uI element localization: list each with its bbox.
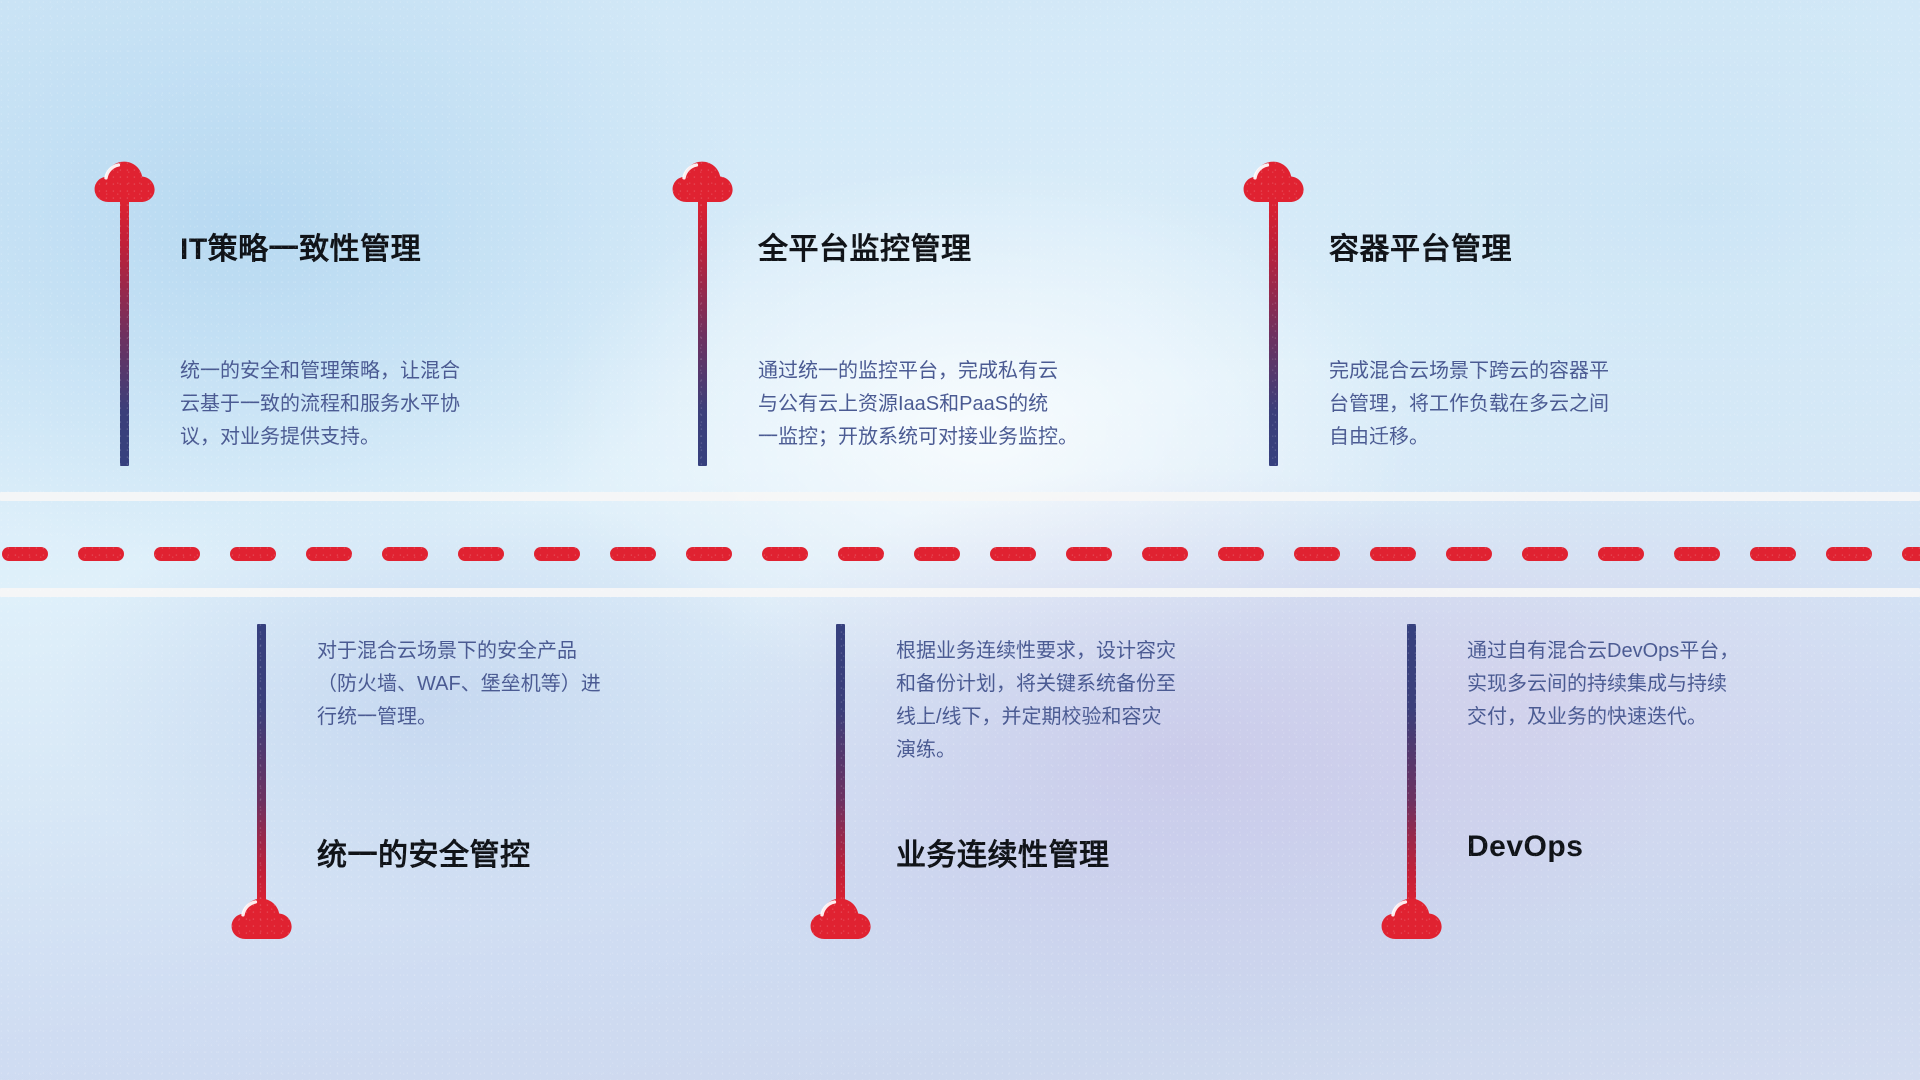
divider-dash [1826,547,1872,561]
divider-dash [914,547,960,561]
divider-dash [610,547,656,561]
desc-line: 通过统一的监控平台，完成私有云 [758,355,1133,388]
panel-stem [698,196,707,466]
desc-line: 行统一管理。 [317,701,677,734]
divider-dash [1902,547,1920,561]
desc-line: （防火墙、WAF、堡垒机等）进 [317,668,677,701]
divider-dash [78,547,124,561]
divider-dash [1370,547,1416,561]
divider-dash [1294,547,1340,561]
desc-line: 实现多云间的持续集成与持续 [1467,668,1827,701]
desc-line: 通过自有混合云DevOps平台， [1467,635,1827,668]
desc-line: 完成混合云场景下跨云的容器平 [1329,355,1689,388]
cloud-icon [231,897,293,941]
desc-line: 演练。 [896,734,1256,767]
divider-dash [1750,547,1796,561]
panel-title: 业务连续性管理 [896,830,1110,874]
desc-line: 议，对业务提供支持。 [180,421,540,454]
panel-title: 容器平台管理 [1329,224,1512,268]
divider-dash [1066,547,1112,561]
panel-stem [836,624,845,910]
cloud-icon [1381,897,1443,941]
desc-line: 台管理，将工作负载在多云之间 [1329,388,1689,421]
panel-description: 根据业务连续性要求，设计容灾 和备份计划，将关键系统备份至 线上/线下，并定期校… [896,635,1256,767]
panel-description: 完成混合云场景下跨云的容器平 台管理，将工作负载在多云之间 自由迁移。 [1329,355,1689,454]
divider-dash [1522,547,1568,561]
divider-dash [382,547,428,561]
panel-description: 对于混合云场景下的安全产品 （防火墙、WAF、堡垒机等）进 行统一管理。 [317,635,677,734]
divider-dash [838,547,884,561]
desc-line: 交付，及业务的快速迭代。 [1467,701,1827,734]
divider-dash [762,547,808,561]
desc-line: 与公有云上资源IaaS和PaaS的统 [758,388,1133,421]
panel-stem [1407,624,1416,910]
divider-dash [990,547,1036,561]
panel-description: 通过统一的监控平台，完成私有云 与公有云上资源IaaS和PaaS的统 一监控；开… [758,355,1133,454]
desc-line: 和备份计划，将关键系统备份至 [896,668,1256,701]
desc-line: 自由迁移。 [1329,421,1689,454]
desc-line: 对于混合云场景下的安全产品 [317,635,677,668]
desc-line: 线上/线下，并定期校验和容灾 [896,701,1256,734]
desc-line: 统一的安全和管理策略，让混合 [180,355,540,388]
divider-dash [1598,547,1644,561]
divider-dash [1446,547,1492,561]
divider-dash [686,547,732,561]
panel-stem [257,624,266,910]
divider-dash [2,547,48,561]
panel-description: 通过自有混合云DevOps平台， 实现多云间的持续集成与持续 交付，及业务的快速… [1467,635,1827,734]
divider-dash [306,547,352,561]
panel-title: 全平台监控管理 [758,224,972,268]
cloud-icon [810,897,872,941]
divider-dash [1674,547,1720,561]
divider-dash [534,547,580,561]
divider-bar-top [0,492,1920,501]
desc-line: 一监控；开放系统可对接业务监控。 [758,421,1133,454]
divider-dash [154,547,200,561]
desc-line: 云基于一致的流程和服务水平协 [180,388,540,421]
panel-stem [1269,196,1278,466]
panel-stem [120,196,129,466]
panel-description: 统一的安全和管理策略，让混合 云基于一致的流程和服务水平协 议，对业务提供支持。 [180,355,540,454]
infographic-canvas: IT策略一致性管理 统一的安全和管理策略，让混合 云基于一致的流程和服务水平协 … [0,0,1920,1080]
panel-title: 统一的安全管控 [317,830,531,874]
panel-title: IT策略一致性管理 [180,224,421,268]
divider-dash [1142,547,1188,561]
divider-dash [458,547,504,561]
panel-title: DevOps [1467,830,1583,864]
divider-bar-bottom [0,588,1920,597]
divider-dash [230,547,276,561]
dashed-divider-line [0,546,1920,562]
divider-dash [1218,547,1264,561]
desc-line: 根据业务连续性要求，设计容灾 [896,635,1256,668]
